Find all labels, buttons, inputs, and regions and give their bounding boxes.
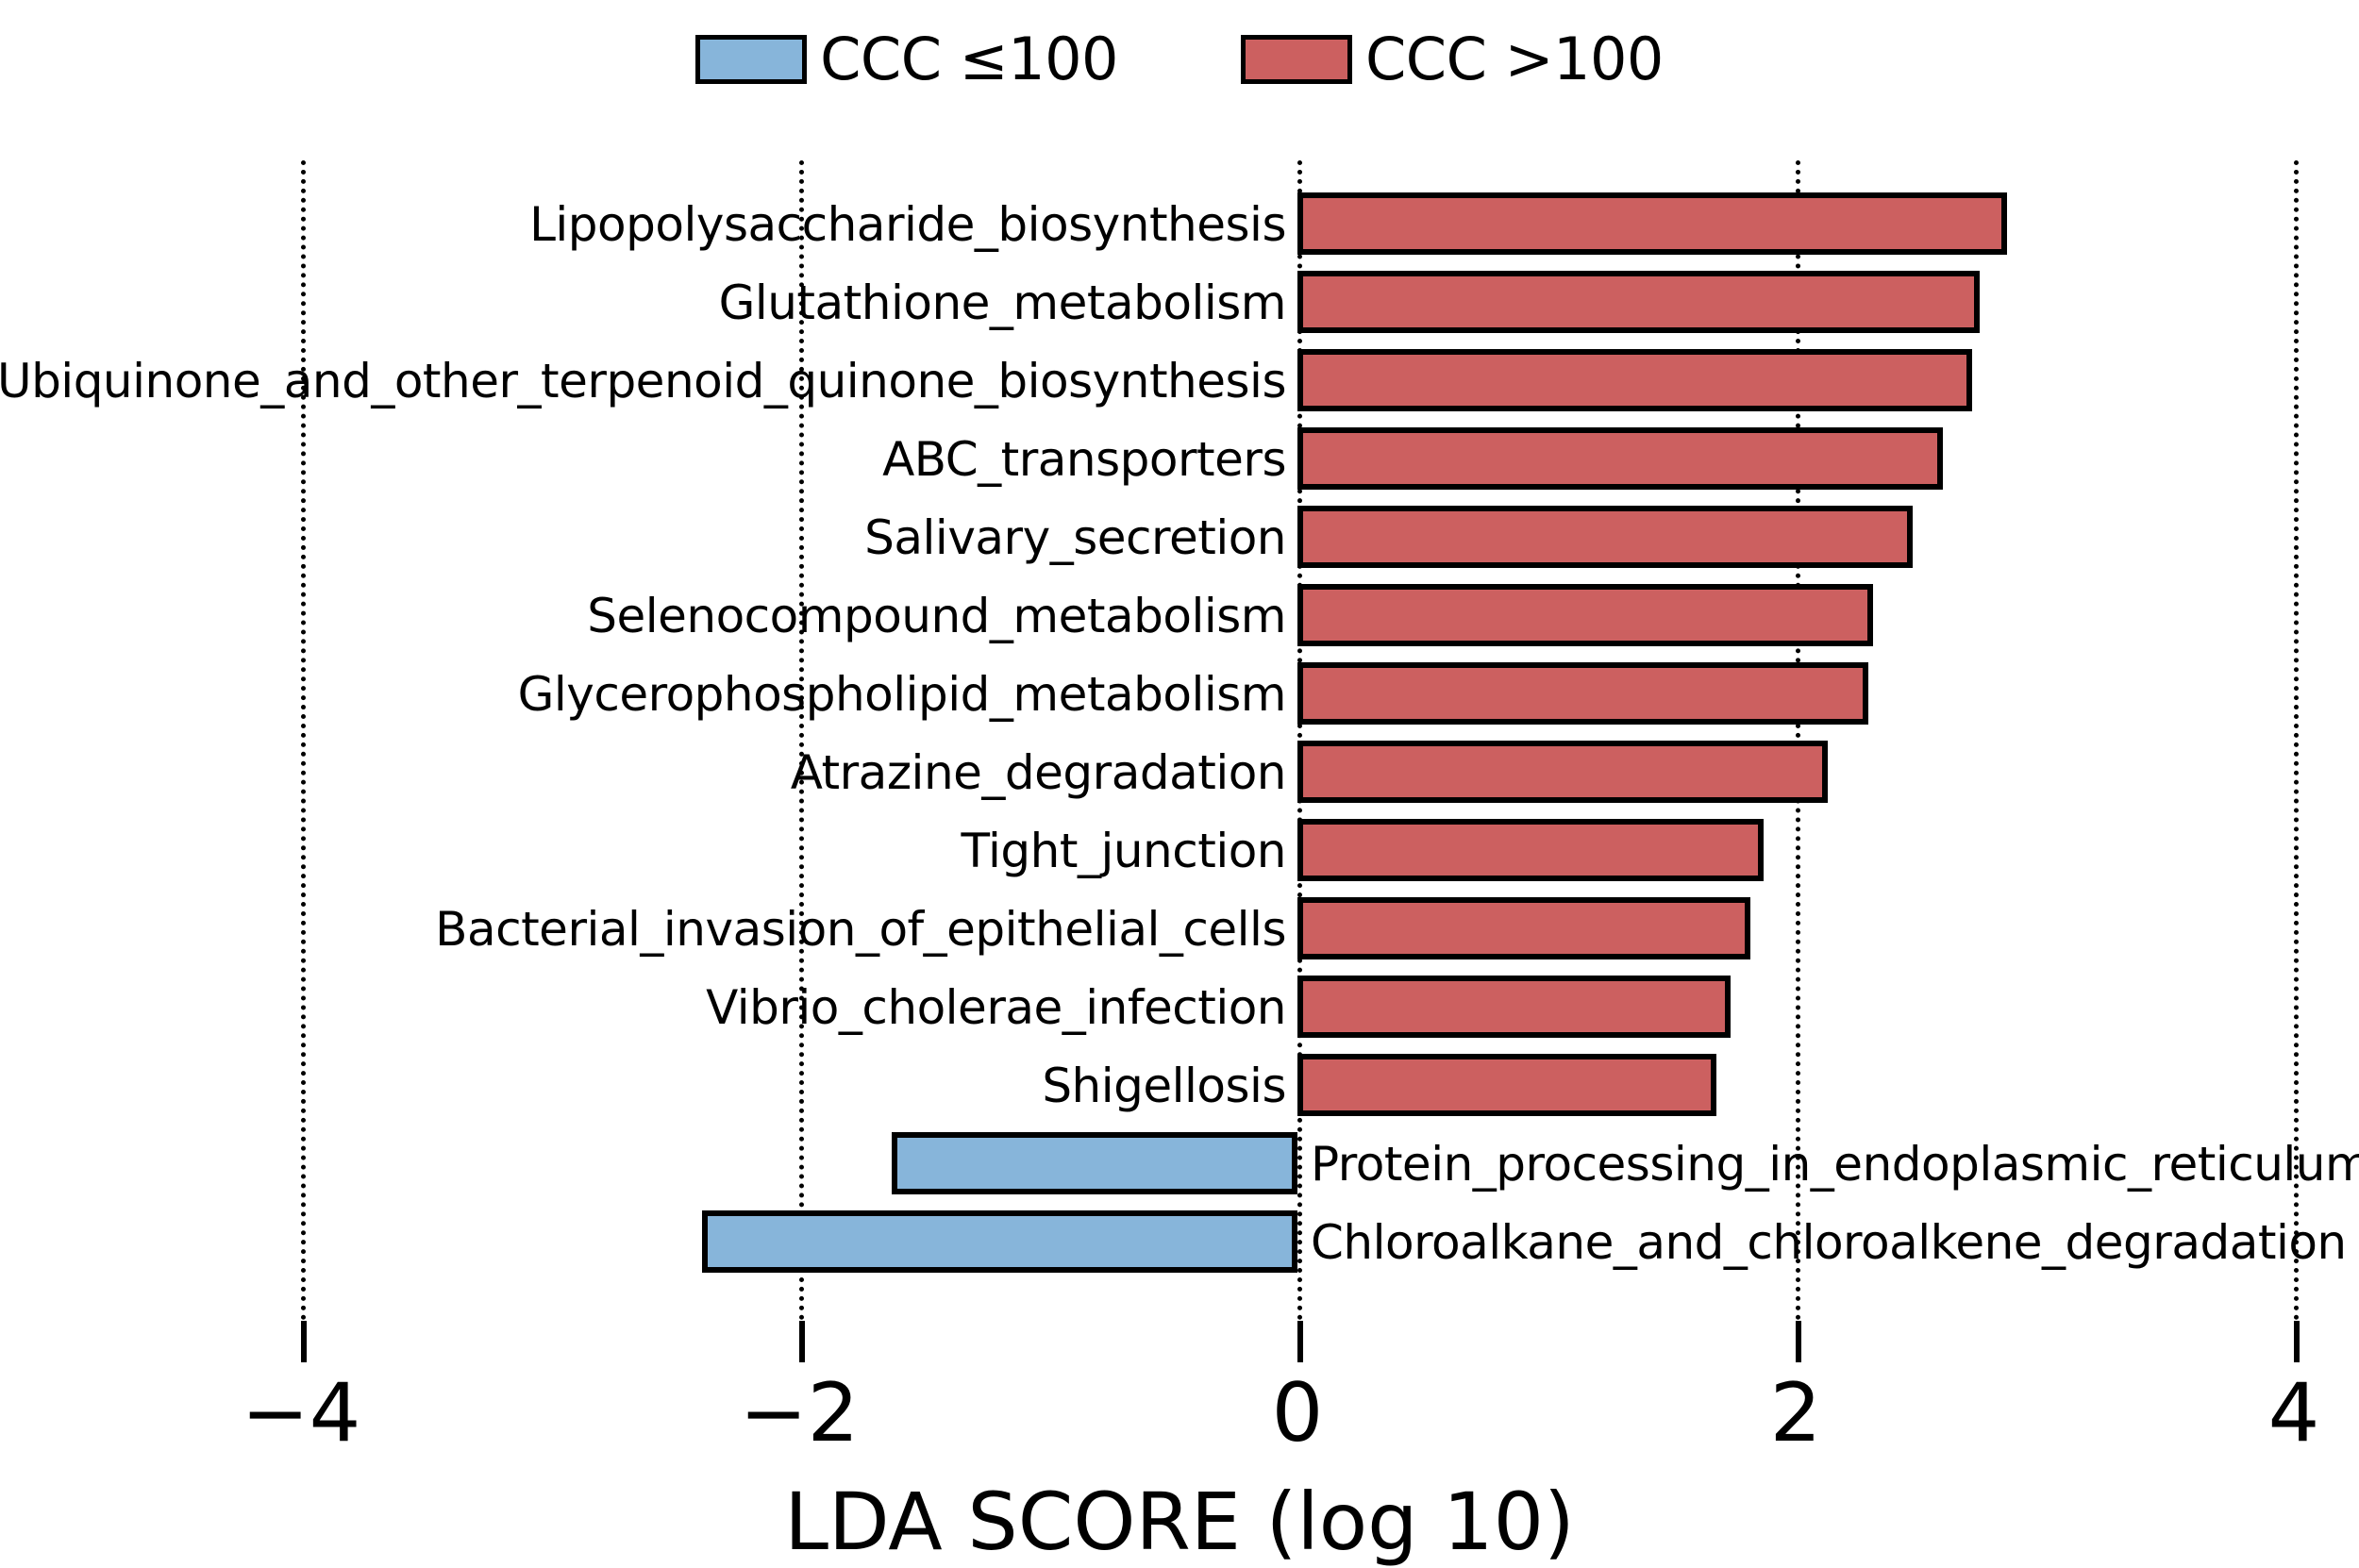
bar-row: ABC_transporters [0,422,2359,496]
bar-high[interactable] [1297,976,1731,1038]
legend-entry-ccc-low: CCC ≤100 [695,30,1118,89]
bar-row: Glutathione_metabolism [0,265,2359,340]
bar-low[interactable] [702,1210,1297,1273]
bar-label: Salivary_secretion [864,513,1286,562]
legend-entry-ccc-high: CCC >100 [1241,30,1664,89]
bar-high[interactable] [1297,1054,1716,1116]
bar-label: Tight_junction [962,826,1286,876]
legend-swatch-ccc-low [695,35,807,84]
bar-row: Ubiquinone_and_other_terpenoid_quinone_b… [0,343,2359,418]
bar-row: Lipopolysaccharide_biosynthesis [0,187,2359,261]
bar-row: Bacterial_invasion_of_epithelial_cells [0,892,2359,966]
bar-label: Vibrio_cholerae_infection [706,983,1286,1032]
legend-label-ccc-low: CCC ≤100 [820,30,1118,89]
bar-high[interactable] [1297,741,1828,803]
bar-label: Protein_processing_in_endoplasmic_reticu… [1311,1140,2359,1189]
bar-row: Atrazine_degradation [0,735,2359,809]
bar-row: Tight_junction [0,813,2359,888]
lda-score-bar-chart: CCC ≤100 CCC >100 Lipopolysaccharide_bio… [0,0,2359,1548]
chart-legend: CCC ≤100 CCC >100 [0,17,2359,102]
bar-high[interactable] [1297,506,1913,568]
bar-label: ABC_transporters [882,435,1286,484]
bar-high[interactable] [1297,271,1980,333]
bar-label: Lipopolysaccharide_biosynthesis [529,200,1286,249]
tick-label: 4 [2268,1370,2320,1457]
legend-label-ccc-high: CCC >100 [1365,30,1664,89]
bar-high[interactable] [1297,349,1972,411]
bar-label: Selenocompound_metabolism [587,592,1286,641]
bar-label: Glycerophospholipid_metabolism [518,670,1286,719]
bar-high[interactable] [1297,897,1750,959]
x-axis-title: LDA SCORE (log 10) [0,1479,2359,1564]
bar-label: Ubiquinone_and_other_terpenoid_quinone_b… [0,357,1286,406]
bar-row: Protein_processing_in_endoplasmic_reticu… [0,1126,2359,1201]
bar-rows: Lipopolysaccharide_biosynthesisGlutathio… [0,187,2359,1305]
tick-label: −4 [242,1370,361,1457]
bar-row: Vibrio_cholerae_infection [0,970,2359,1044]
tick-label: −2 [740,1370,860,1457]
bar-label: Chloroalkane_and_chloroalkene_degradatio… [1311,1218,2347,1267]
bar-high[interactable] [1297,819,1764,881]
tick-mark [1796,1321,1801,1362]
tick-label: 2 [1770,1370,1822,1457]
tick-mark [301,1321,307,1362]
bar-row: Salivary_secretion [0,500,2359,575]
bar-label: Atrazine_degradation [791,748,1286,797]
bar-high[interactable] [1297,662,1868,725]
bar-label: Shigellosis [1042,1061,1286,1110]
bar-row: Glycerophospholipid_metabolism [0,657,2359,731]
bar-row: Shigellosis [0,1048,2359,1123]
bar-high[interactable] [1297,427,1943,490]
tick-mark [2294,1321,2300,1362]
bar-high[interactable] [1297,584,1873,646]
plot-area: Lipopolysaccharide_biosynthesisGlutathio… [0,142,2359,1321]
bar-low[interactable] [892,1132,1297,1194]
x-axis: −4−2024 LDA SCORE (log 10) [0,1321,2359,1548]
tick-label: 0 [1272,1370,1324,1457]
bar-row: Chloroalkane_and_chloroalkene_degradatio… [0,1205,2359,1279]
bar-label: Glutathione_metabolism [719,278,1286,327]
tick-mark [799,1321,805,1362]
bar-row: Selenocompound_metabolism [0,578,2359,653]
bar-label: Bacterial_invasion_of_epithelial_cells [435,905,1286,954]
bar-high[interactable] [1297,192,2007,255]
tick-mark [1297,1321,1303,1362]
legend-swatch-ccc-high [1241,35,1352,84]
